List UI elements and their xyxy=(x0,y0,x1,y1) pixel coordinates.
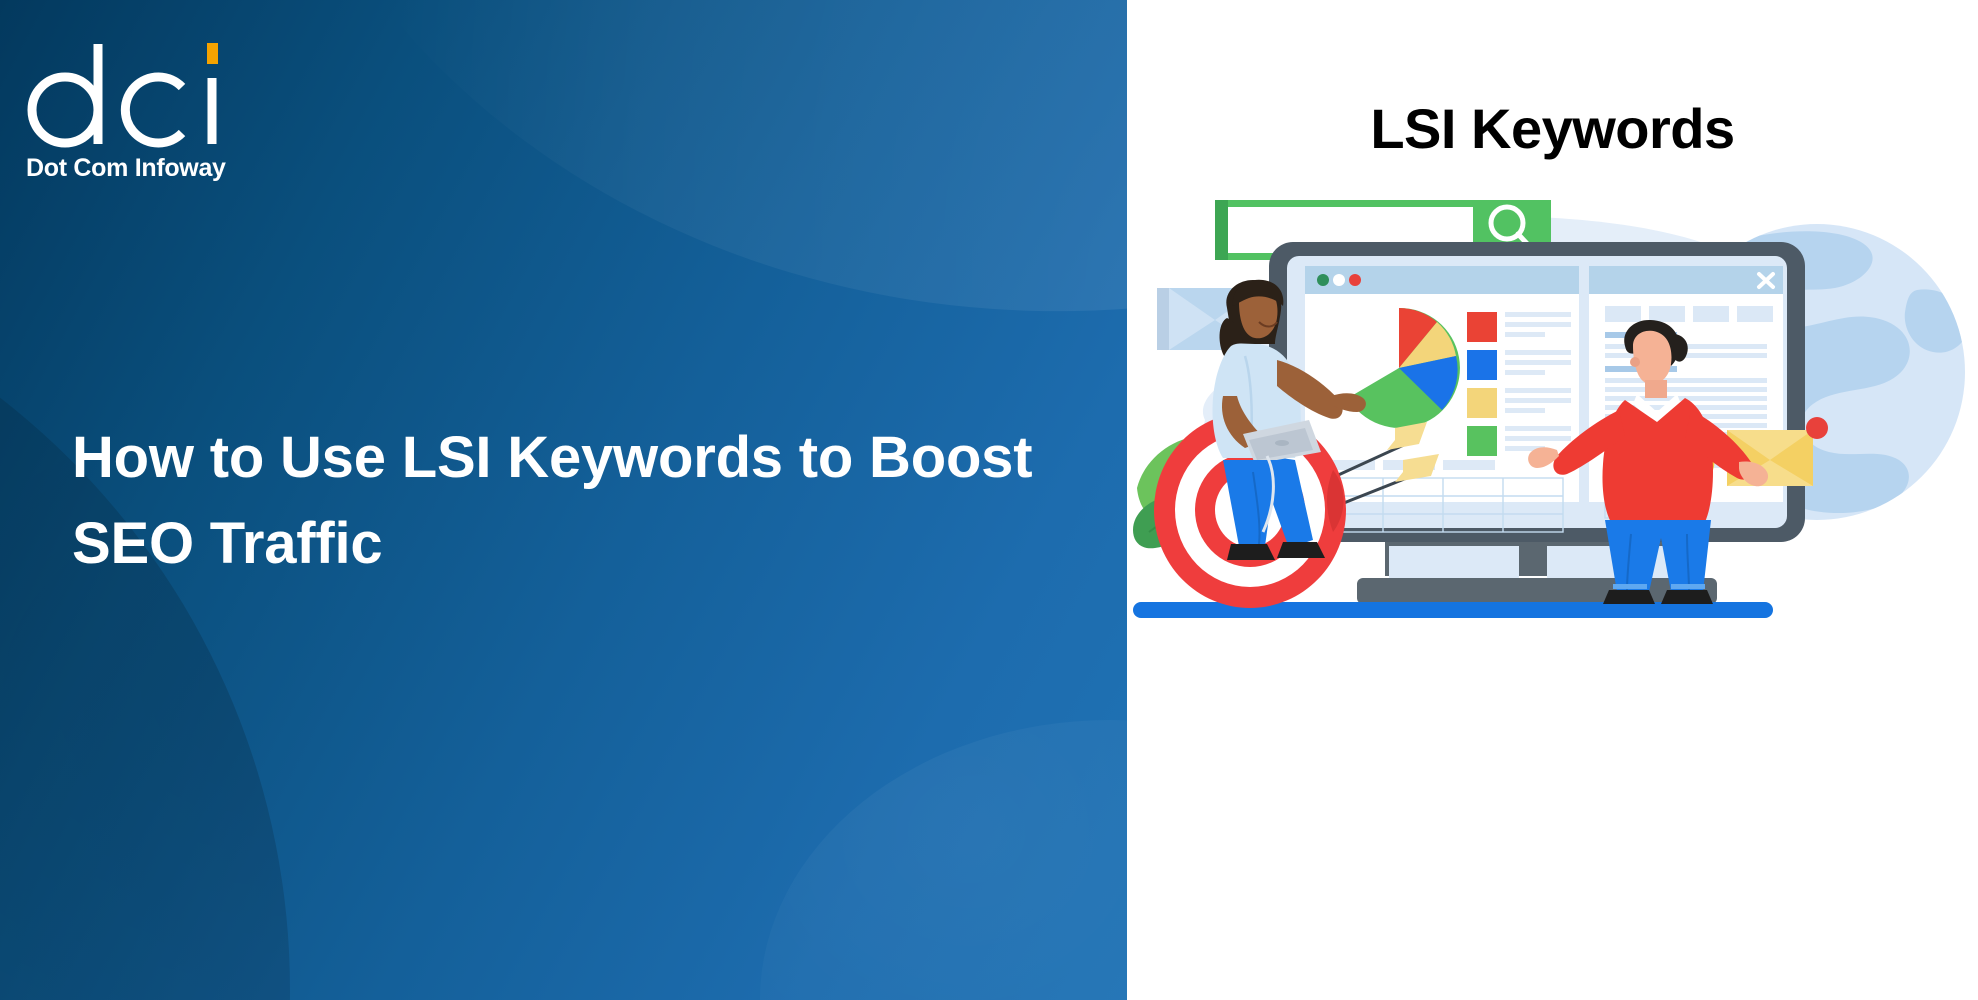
background-shadow-bottom-left xyxy=(0,240,290,1000)
left-blue-panel: Dot Com Infoway How to Use LSI Keywords … xyxy=(0,0,1127,1000)
poster-canvas: Dot Com Infoway How to Use LSI Keywords … xyxy=(0,0,1978,1000)
legend-swatch-blue xyxy=(1467,350,1497,380)
legend-swatch-yellow xyxy=(1467,388,1497,418)
right-white-panel: LSI Keywords xyxy=(1127,0,1978,1000)
browser-titlebar xyxy=(1305,266,1579,294)
search-bar-accent xyxy=(1215,200,1228,260)
window-dot-green xyxy=(1317,274,1329,286)
legend-swatch-green xyxy=(1467,426,1497,456)
logo-accent-dot xyxy=(207,43,218,64)
brand-logo[interactable]: Dot Com Infoway xyxy=(26,40,296,183)
background-sheen-corner xyxy=(760,720,1127,1000)
legend-swatch-red xyxy=(1467,312,1497,342)
background-sheen-top xyxy=(156,0,1127,395)
logo-tagline: Dot Com Infoway xyxy=(26,154,296,183)
page-title: How to Use LSI Keywords to Boost SEO Tra… xyxy=(72,415,1062,588)
illustration-heading: LSI Keywords xyxy=(1127,96,1978,161)
window-dot-white xyxy=(1333,274,1345,286)
logo-mark-dci xyxy=(26,40,236,148)
notification-badge xyxy=(1806,417,1828,439)
window-dot-red xyxy=(1349,274,1361,286)
browser-titlebar-right xyxy=(1589,266,1783,294)
seo-lsi-keywords-illustration xyxy=(1127,160,1978,620)
